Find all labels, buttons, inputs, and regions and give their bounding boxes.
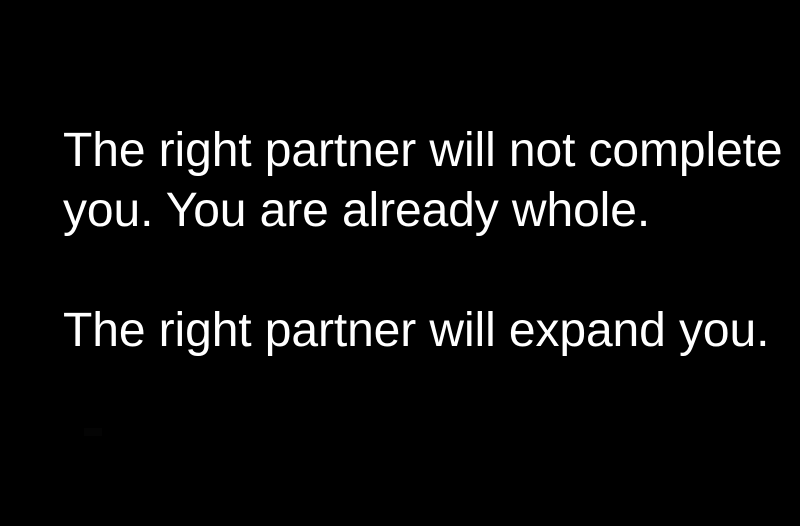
quote-text-block: The right partner will not complete you.… <box>63 121 763 361</box>
quote-image-canvas: The right partner will not complete you.… <box>0 0 800 526</box>
quote-line-2: you. You are already whole. <box>63 181 763 241</box>
paragraph-spacer <box>63 241 763 301</box>
compression-artifact <box>84 428 102 436</box>
quote-line-1: The right partner will not complete <box>63 121 763 181</box>
quote-paragraph-2: The right partner will expand you. <box>63 301 763 361</box>
quote-line-3: The right partner will expand you. <box>63 301 763 361</box>
quote-paragraph-1: The right partner will not complete you.… <box>63 121 763 241</box>
